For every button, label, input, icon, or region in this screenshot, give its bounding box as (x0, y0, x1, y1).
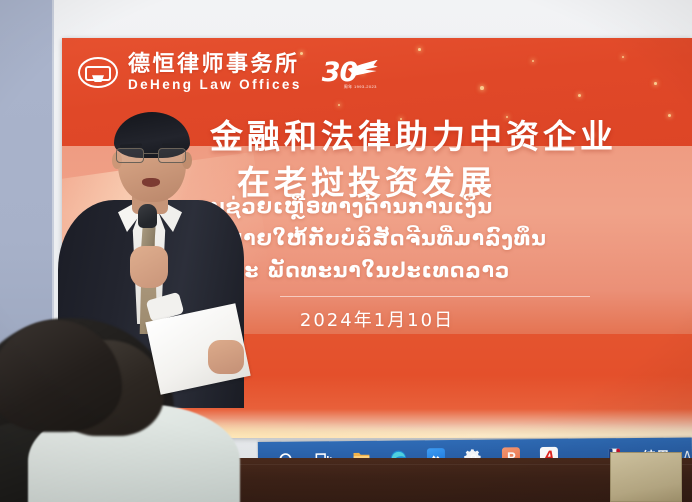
glasses-icon (114, 148, 190, 164)
speaker-hand-holding-papers (208, 340, 244, 374)
speaker-hand-holding-mic (130, 246, 168, 288)
brand-lockup: 德恒律师事务所 DeHeng Law Offices 30 周年 1993-20… (78, 54, 378, 92)
slide-title-line1: 金融和法律助力中资企业 (210, 110, 692, 158)
slide-subtitle-lao-line3: ແລະ ພັດທະນາໃນປະເທດລາວ (210, 258, 692, 282)
anniversary-logo: 30 周年 1993-2023 (322, 56, 378, 90)
microphone-icon (138, 204, 157, 228)
slide-divider (280, 296, 590, 297)
brand-name-cn: 德恒律师事务所 (128, 54, 302, 76)
slide-subtitle-lao-line2: ດໝາຍໃຫ້ກັບບໍລິສັດຈີນທີ່ມາລົງທຶນ (200, 226, 692, 250)
speaker-mouth (142, 178, 160, 187)
anniversary-sub: 周年 1993-2023 (344, 84, 377, 90)
deheng-seal-icon (78, 57, 118, 88)
chair-back (610, 452, 682, 502)
brand-name-en: DeHeng Law Offices (128, 78, 302, 92)
slide-subtitle-lao-line1: ການຊ່ວຍເຫຼືອທາງດ້ານການເງິນ (180, 194, 692, 218)
conference-room-scene: 德恒律师事务所 DeHeng Law Offices 30 周年 1993-20… (0, 0, 692, 502)
brand-text: 德恒律师事务所 DeHeng Law Offices (128, 54, 302, 92)
